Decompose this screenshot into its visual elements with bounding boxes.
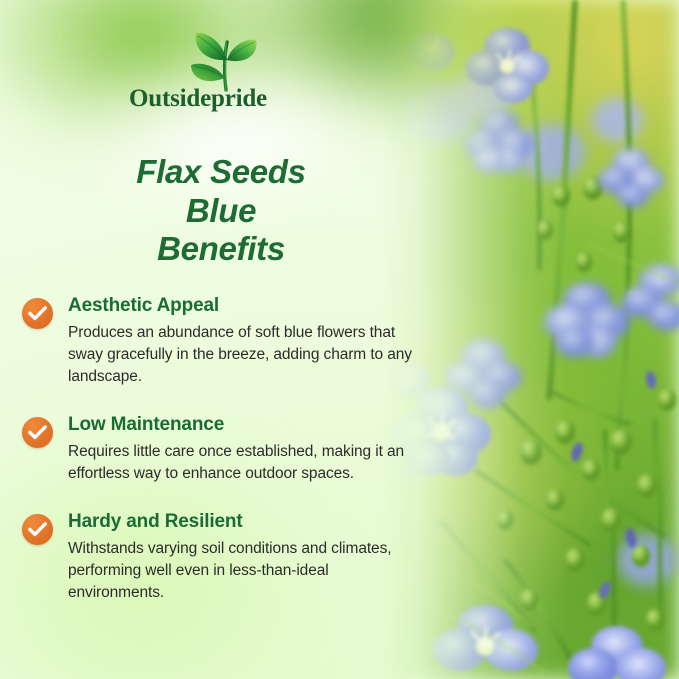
title-line-2: Blue xyxy=(26,192,416,231)
checkmark-glyph xyxy=(28,522,47,537)
benefit-title: Hardy and Resilient xyxy=(68,511,420,533)
brand-logo: Outsidepride xyxy=(118,30,278,122)
photo-flower-artwork xyxy=(379,0,679,679)
benefit-title: Low Maintenance xyxy=(68,414,420,436)
benefit-item: Aesthetic Appeal Produces an abundance o… xyxy=(20,295,420,388)
check-circle-icon xyxy=(22,514,53,545)
benefit-description: Withstands varying soil conditions and c… xyxy=(68,538,420,604)
plant-sprout-leaves-icon xyxy=(180,30,268,92)
benefit-description: Requires little care once established, m… xyxy=(68,441,420,485)
benefit-item: Hardy and Resilient Withstands varying s… xyxy=(20,511,420,604)
check-circle-icon xyxy=(22,298,53,329)
check-circle-icon xyxy=(22,417,53,448)
benefit-title: Aesthetic Appeal xyxy=(68,295,420,317)
title-line-3: Benefits xyxy=(26,230,416,269)
blue-flax-flowers-photo xyxy=(379,0,679,679)
benefit-description: Produces an abundance of soft blue flowe… xyxy=(68,322,420,388)
benefits-list: Aesthetic Appeal Produces an abundance o… xyxy=(20,295,420,604)
checkmark-glyph xyxy=(28,425,47,440)
brand-wordmark: Outsidepride xyxy=(118,86,278,111)
benefit-item: Low Maintenance Requires little care onc… xyxy=(20,414,420,485)
page-title: Flax Seeds Blue Benefits xyxy=(26,153,416,269)
title-line-1: Flax Seeds xyxy=(26,153,416,192)
checkmark-glyph xyxy=(28,306,47,321)
infographic-canvas: Outsidepride Flax Seeds Blue Benefits Ae… xyxy=(0,0,679,679)
sprout-svg xyxy=(180,30,268,92)
